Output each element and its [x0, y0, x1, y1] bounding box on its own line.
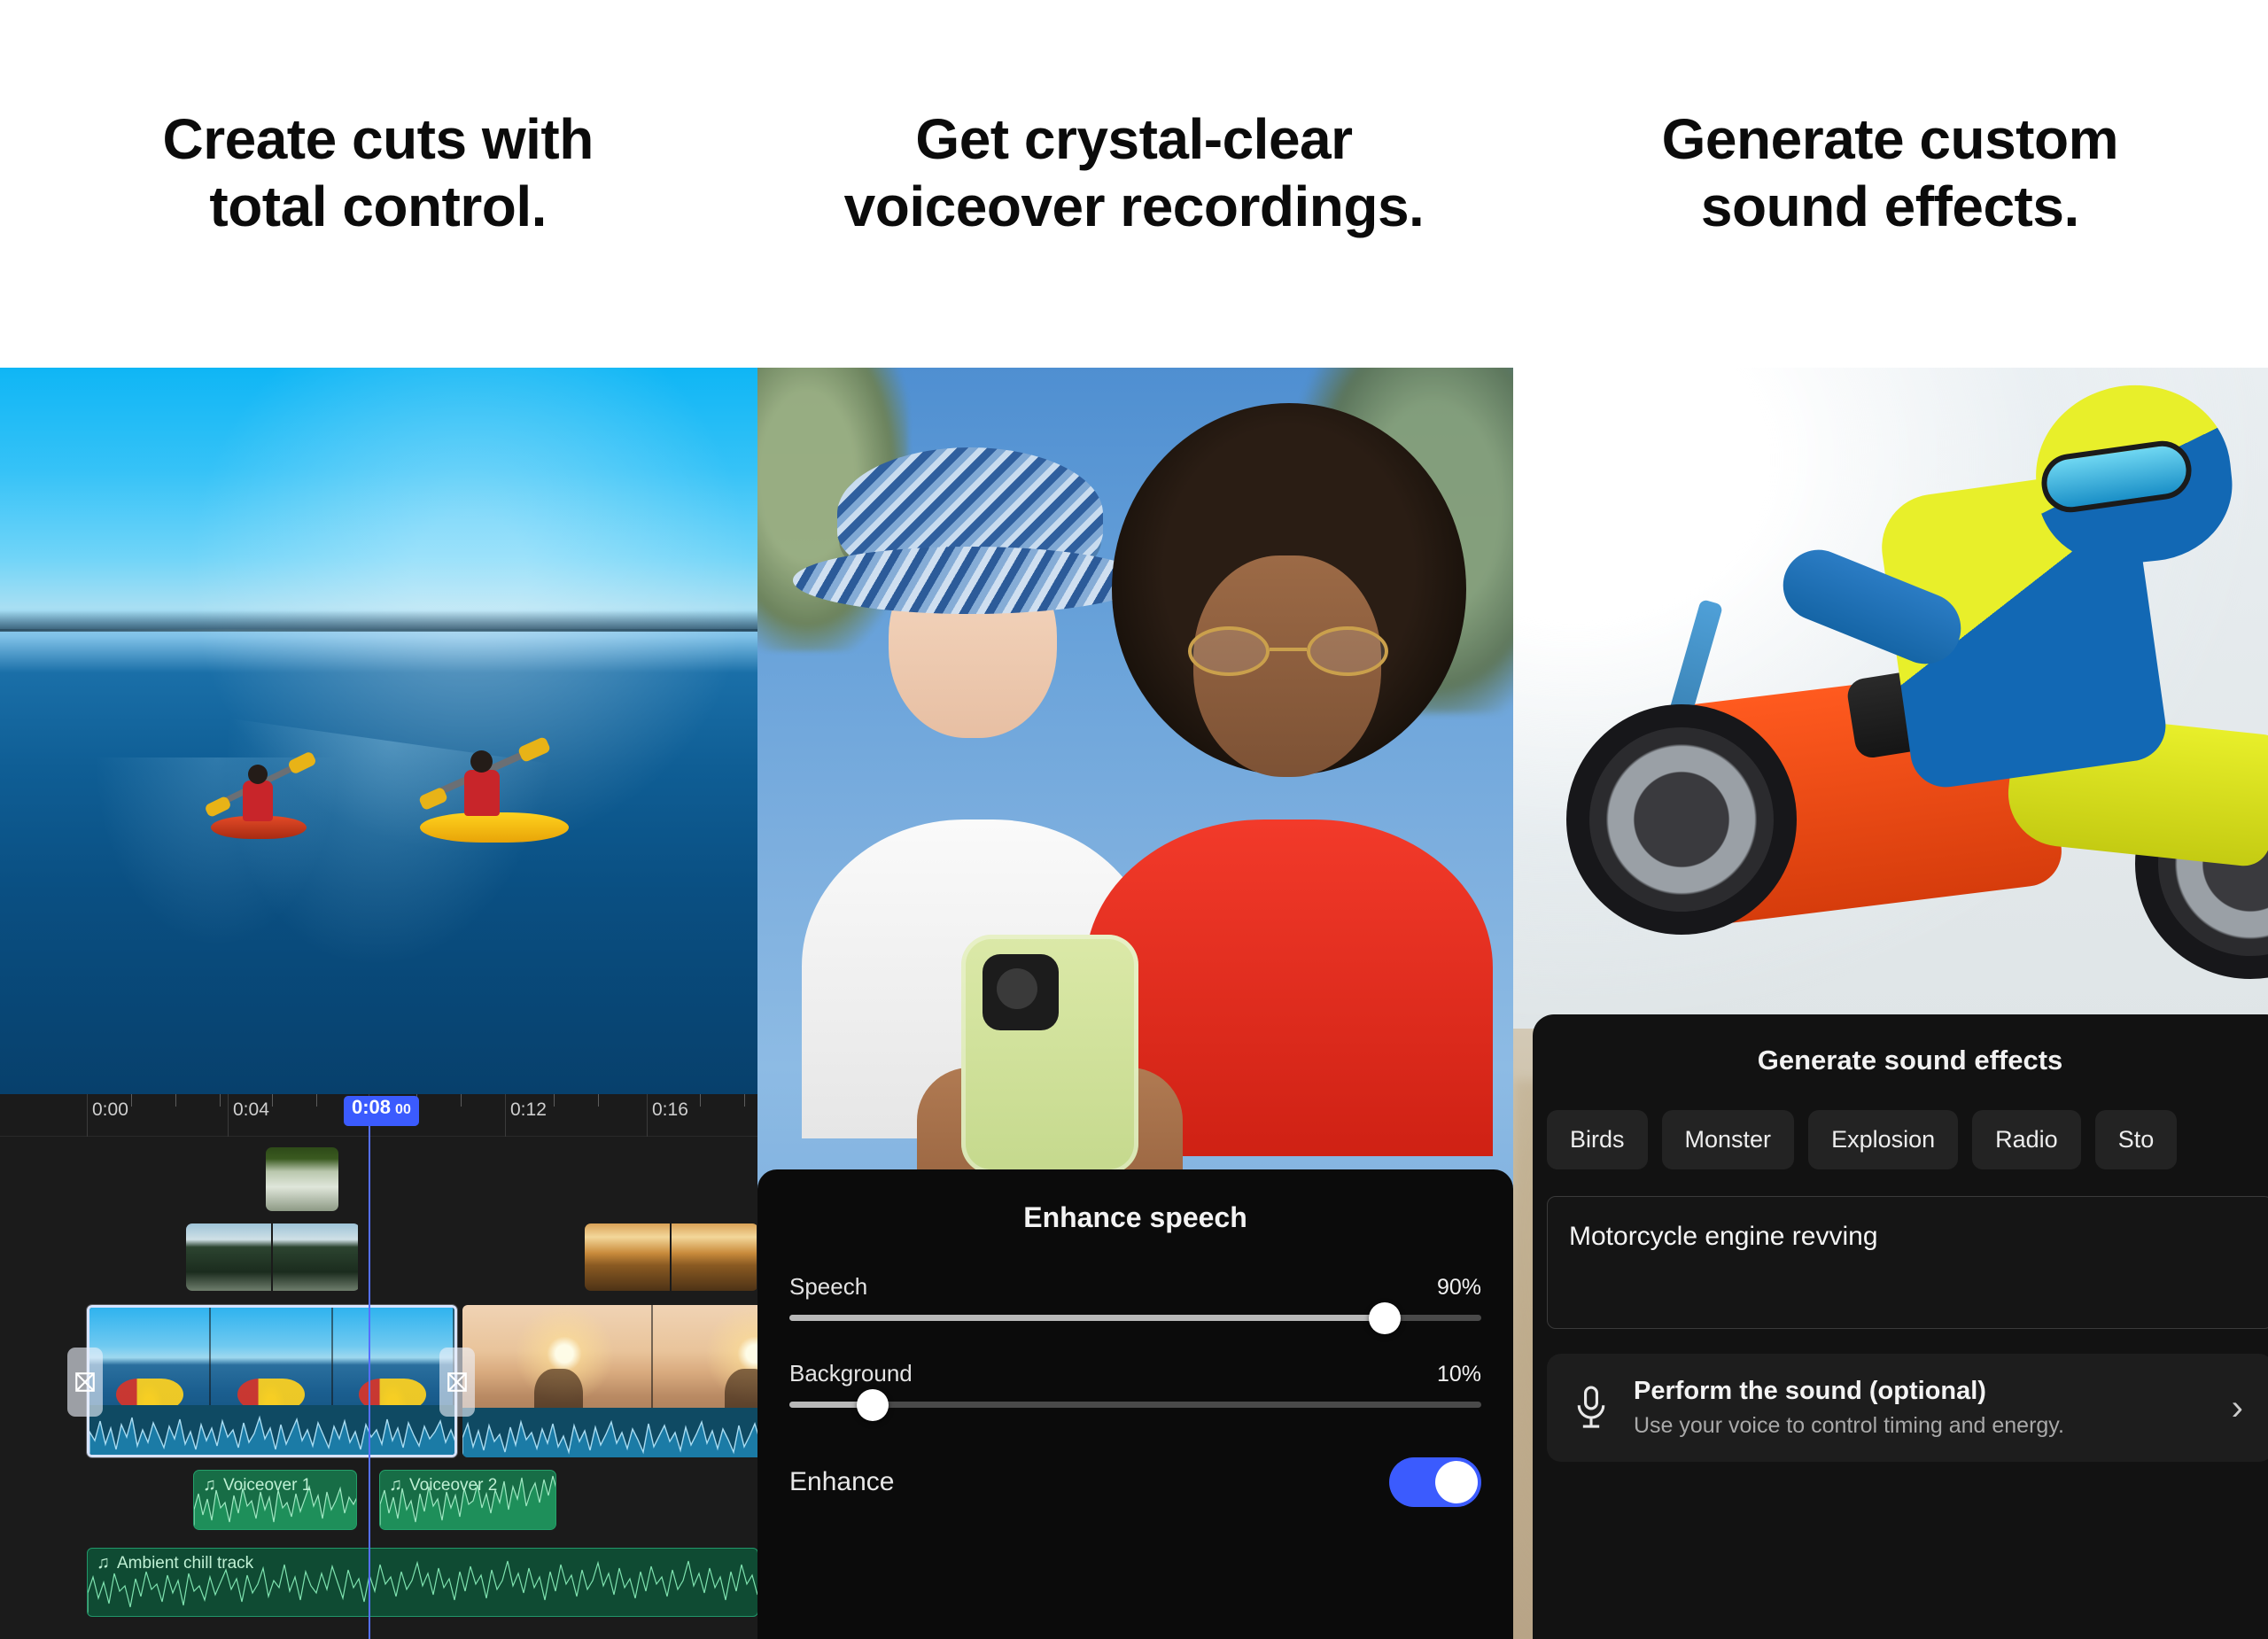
ruler-label-4: 0:16 — [647, 1099, 688, 1121]
front-wheel — [1566, 704, 1797, 935]
video-preview-kayak — [0, 368, 757, 1094]
kayaker-red — [204, 749, 319, 855]
ruler-tick — [461, 1094, 462, 1107]
smartphone — [961, 935, 1138, 1174]
chip-birds[interactable]: Birds — [1547, 1110, 1648, 1169]
enhance-toggle-label: Enhance — [789, 1467, 894, 1497]
eyeglasses — [1188, 626, 1388, 676]
perform-title: Perform the sound (optional) — [1634, 1377, 2209, 1406]
slider-speech-value: 90% — [1437, 1275, 1481, 1301]
video-clip-sunset[interactable] — [462, 1305, 757, 1457]
slider-speech-knob[interactable] — [1369, 1302, 1401, 1334]
audio-clip-label: ♫ Voiceover 2 — [389, 1475, 497, 1495]
chip-radio[interactable]: Radio — [1972, 1110, 2081, 1169]
enhance-toggle[interactable] — [1389, 1457, 1481, 1507]
ruler-tick — [131, 1094, 132, 1107]
music-note-icon: ♫ — [389, 1475, 402, 1495]
sfx-prompt-input[interactable]: Motorcycle engine revving — [1547, 1196, 2268, 1329]
enhance-toggle-row[interactable]: Enhance — [757, 1457, 1513, 1507]
clip-waveform — [462, 1408, 757, 1457]
trim-handle-right[interactable] — [439, 1348, 475, 1417]
waveform-svg — [89, 1405, 454, 1455]
music-note-icon: ♫ — [203, 1475, 216, 1495]
horizon-line — [0, 629, 757, 632]
audio-clip-label: ♫ Ambient chill track — [97, 1553, 253, 1573]
trim-handle-left[interactable] — [67, 1348, 103, 1417]
heading-column-1: Create cuts withtotal control. — [0, 0, 756, 368]
thumbnail-frame — [585, 1223, 672, 1291]
broll-thumbnail[interactable] — [266, 1147, 338, 1211]
heading-column-3: Generate customsound effects. — [1512, 0, 2268, 368]
paddle-blade-right — [517, 736, 551, 763]
slider-background-header: Background 10% — [789, 1360, 1481, 1387]
generate-sfx-card: Generate sound effects Birds Monster Exp… — [1533, 1014, 2268, 1639]
kayaker-yellow — [416, 740, 576, 864]
chip-explosion[interactable]: Explosion — [1808, 1110, 1958, 1169]
kayaker-head — [248, 765, 268, 784]
slider-speech[interactable]: Speech 90% — [757, 1273, 1513, 1321]
perform-the-sound-row[interactable]: Perform the sound (optional) Use your vo… — [1547, 1354, 2268, 1462]
phone-camera — [983, 954, 1059, 1030]
page-title-3: Generate customsound effects. — [1662, 106, 2118, 240]
heading-3-line-1: Generate custom — [1662, 107, 2118, 171]
ruler-tick — [744, 1094, 745, 1107]
audio-clip-name: Voiceover 2 — [409, 1476, 497, 1495]
thumbnail-frame — [672, 1223, 757, 1291]
card-title: Generate sound effects — [1533, 1045, 2268, 1076]
toggle-knob — [1435, 1461, 1478, 1503]
slider-background-track[interactable] — [789, 1402, 1481, 1408]
broll-clip-pines[interactable] — [186, 1223, 360, 1291]
audio-clip-voiceover-2[interactable]: ♫ Voiceover 2 — [379, 1470, 556, 1530]
heading-column-2: Get crystal-clearvoiceover recordings. — [756, 0, 1511, 368]
video-clip-selected-kayak[interactable] — [87, 1305, 457, 1457]
ruler-tick — [554, 1094, 555, 1107]
perform-text-block: Perform the sound (optional) Use your vo… — [1634, 1377, 2209, 1439]
microphone-icon — [1572, 1385, 1611, 1431]
thumbnail-frame — [186, 1223, 273, 1291]
heading-1-line-1: Create cuts with — [162, 107, 593, 171]
slider-background[interactable]: Background 10% — [757, 1360, 1513, 1408]
slider-background-value: 10% — [1437, 1362, 1481, 1387]
panels-row: 0:00 0:04 0:12 0:16 — [0, 368, 2268, 1639]
ruler-tick — [272, 1094, 273, 1107]
chip-storm-truncated[interactable]: Sto — [2095, 1110, 2178, 1169]
page-title-2: Get crystal-clearvoiceover recordings. — [844, 106, 1425, 240]
ruler-tick — [598, 1094, 599, 1107]
kayaker-torso — [243, 781, 273, 821]
person-right — [1076, 403, 1493, 1130]
audio-clip-name: Voiceover 1 — [223, 1476, 311, 1495]
timeline-ruler[interactable]: 0:00 0:04 0:12 0:16 — [0, 1094, 757, 1137]
slider-background-knob[interactable] — [857, 1389, 889, 1421]
sheet-title: Enhance speech — [757, 1169, 1513, 1234]
chip-monster[interactable]: Monster — [1662, 1110, 1795, 1169]
paddle-blade-left — [204, 796, 232, 819]
timeline[interactable]: 0:00 0:04 0:12 0:16 — [0, 1094, 757, 1639]
lens-left — [1188, 626, 1270, 676]
slider-background-label: Background — [789, 1360, 913, 1387]
lens-right — [1307, 626, 1388, 676]
shoreline — [0, 610, 757, 631]
broll-clip-autumn[interactable] — [585, 1223, 757, 1291]
enhance-speech-sheet: Enhance speech Speech 90% Background 10% — [757, 1169, 1513, 1639]
panel-enhance-speech: Enhance speech Speech 90% Background 10% — [757, 368, 1513, 1639]
kayaker-torso — [464, 770, 500, 816]
heading-2-line-2: voiceover recordings. — [844, 175, 1425, 238]
perform-subtitle: Use your voice to control timing and ene… — [1634, 1413, 2209, 1439]
heading-2-line-1: Get crystal-clear — [915, 107, 1352, 171]
ruler-label-3: 0:12 — [505, 1099, 547, 1121]
thumbnail-frame — [273, 1223, 360, 1291]
playhead-time-chip[interactable]: 0:08 00 — [344, 1096, 419, 1126]
chevron-right-icon[interactable]: › — [2232, 1390, 2249, 1425]
slider-speech-header: Speech 90% — [789, 1273, 1481, 1301]
trim-x-icon — [446, 1371, 469, 1394]
marketing-feature-triptych: Create cuts withtotal control. Get cryst… — [0, 0, 2268, 1639]
ruler-label-1: 0:04 — [228, 1099, 269, 1121]
audio-clip-label: ♫ Voiceover 1 — [203, 1475, 311, 1495]
waveform-svg — [462, 1408, 757, 1457]
ruler-label-0: 0:00 — [87, 1099, 128, 1121]
heading-1-line-2: total control. — [209, 175, 547, 238]
clip-waveform — [89, 1405, 454, 1455]
ruler-tick — [220, 1094, 221, 1107]
headings-band: Create cuts withtotal control. Get cryst… — [0, 0, 2268, 368]
audio-clip-voiceover-1[interactable]: ♫ Voiceover 1 — [193, 1470, 357, 1530]
preset-chip-row[interactable]: Birds Monster Explosion Radio Sto — [1533, 1110, 2268, 1169]
playhead-time: 0:08 — [352, 1096, 391, 1119]
audio-clip-ambient-music[interactable]: ♫ Ambient chill track — [87, 1548, 757, 1617]
trim-x-icon — [74, 1371, 97, 1394]
playhead-frames: 00 — [395, 1102, 411, 1118]
music-note-icon: ♫ — [97, 1553, 110, 1573]
paddle-blade-left — [418, 787, 448, 812]
ruler-tick — [700, 1094, 701, 1107]
slider-speech-label: Speech — [789, 1273, 867, 1301]
ruler-tick — [316, 1094, 317, 1107]
sfx-prompt-text: Motorcycle engine revving — [1569, 1222, 2251, 1252]
slider-speech-fill — [789, 1315, 1385, 1321]
playhead-line[interactable] — [369, 1126, 370, 1639]
glasses-bridge — [1270, 648, 1307, 651]
panel-video-editor: 0:00 0:04 0:12 0:16 — [0, 368, 757, 1639]
audio-clip-name: Ambient chill track — [117, 1554, 253, 1573]
panel-generate-sfx: Generate sound effects Birds Monster Exp… — [1513, 368, 2268, 1639]
kayak-hull — [420, 812, 569, 843]
slider-speech-track[interactable] — [789, 1315, 1481, 1321]
heading-3-line-2: sound effects. — [1701, 175, 2079, 238]
ruler-tick — [175, 1094, 176, 1107]
kayaker-head — [470, 750, 493, 773]
paddle-blade-right — [287, 750, 317, 775]
page-title-1: Create cuts withtotal control. — [162, 106, 593, 240]
